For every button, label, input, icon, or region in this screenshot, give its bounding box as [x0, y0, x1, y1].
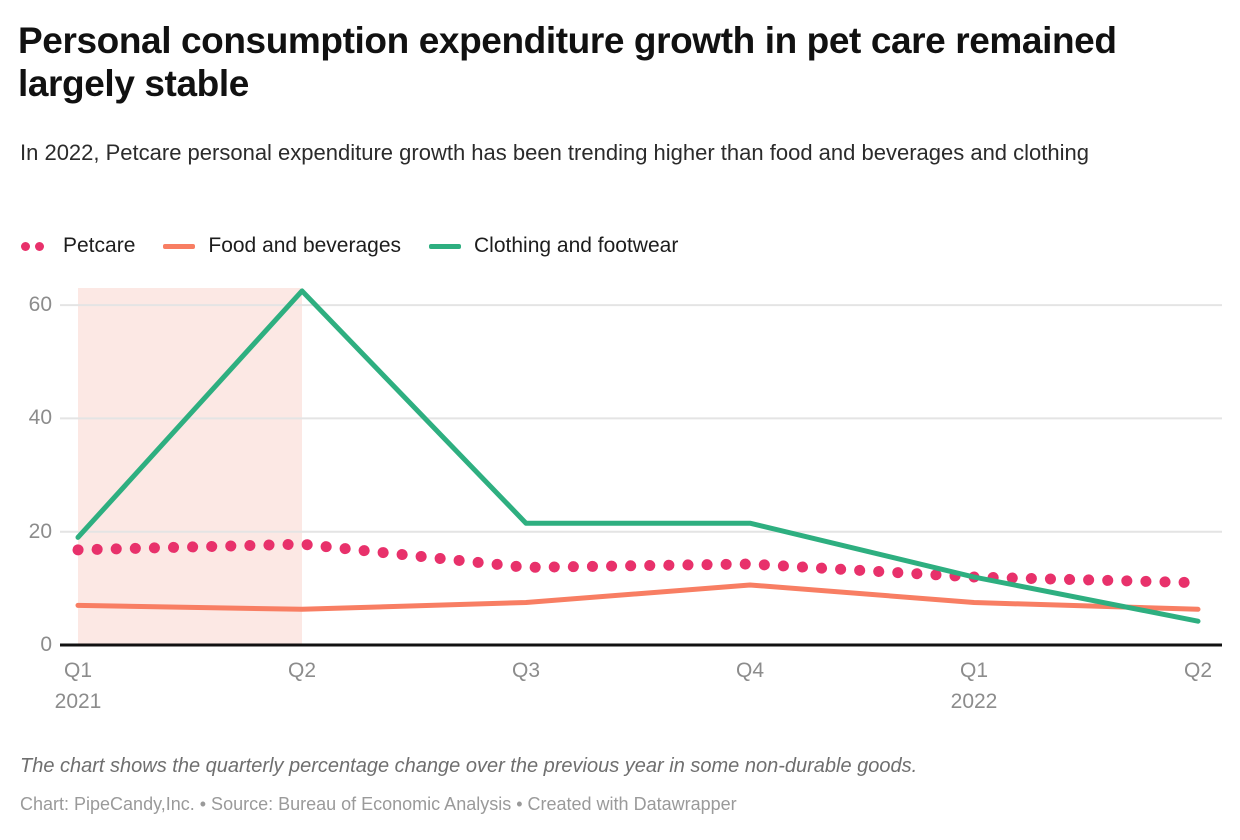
highlight-band: [78, 288, 302, 645]
x-axis-tick-quarter: Q4: [736, 659, 764, 682]
y-axis-tick: 60: [6, 293, 52, 317]
x-axis-tick-quarter: Q1: [64, 659, 92, 682]
y-axis-tick: 40: [6, 406, 52, 430]
legend-label-petcare: Petcare: [63, 234, 135, 258]
x-axis-tick: Q12022: [951, 659, 998, 714]
x-axis-tick-year: 2021: [55, 690, 102, 714]
y-axis-tick: 20: [6, 520, 52, 544]
legend-item-clothing-and-footwear[interactable]: Clothing and footwear: [429, 234, 678, 258]
legend-swatch-line-icon: [429, 237, 463, 255]
x-axis-tick-quarter: Q2: [288, 659, 316, 682]
chart-credit: Chart: PipeCandy,Inc. • Source: Bureau o…: [20, 794, 737, 815]
legend-item-petcare[interactable]: Petcare: [18, 234, 135, 258]
chart-page: Personal consumption expenditure growth …: [0, 0, 1240, 840]
chart-legend: Petcare Food and beverages Clothing and …: [18, 234, 706, 258]
x-axis-tick: Q12021: [55, 659, 102, 714]
x-axis-tick: Q3: [512, 659, 540, 683]
legend-swatch-dotted-icon: [18, 237, 52, 255]
x-axis-tick: Q2: [1184, 659, 1212, 683]
x-axis-tick: Q2: [288, 659, 316, 683]
plot-area: 0204060 Q12021Q2Q3Q4Q12022Q2: [0, 280, 1240, 655]
x-axis-tick-quarter: Q3: [512, 659, 540, 682]
x-axis-tick: Q4: [736, 659, 764, 683]
chart-note: The chart shows the quarterly percentage…: [20, 755, 917, 778]
chart-canvas: [0, 280, 1240, 655]
x-axis-tick-year: 2022: [951, 690, 998, 714]
legend-label-food-and-beverages: Food and beverages: [208, 234, 401, 258]
legend-swatch-line-icon: [163, 237, 197, 255]
y-axis-tick: 0: [6, 633, 52, 657]
legend-item-food-and-beverages[interactable]: Food and beverages: [163, 234, 401, 258]
x-axis-tick-quarter: Q2: [1184, 659, 1212, 682]
x-axis-tick-quarter: Q1: [960, 659, 988, 682]
page-title: Personal consumption expenditure growth …: [18, 20, 1138, 106]
legend-label-clothing-and-footwear: Clothing and footwear: [474, 234, 678, 258]
chart-subtitle: In 2022, Petcare personal expenditure gr…: [20, 138, 1225, 167]
